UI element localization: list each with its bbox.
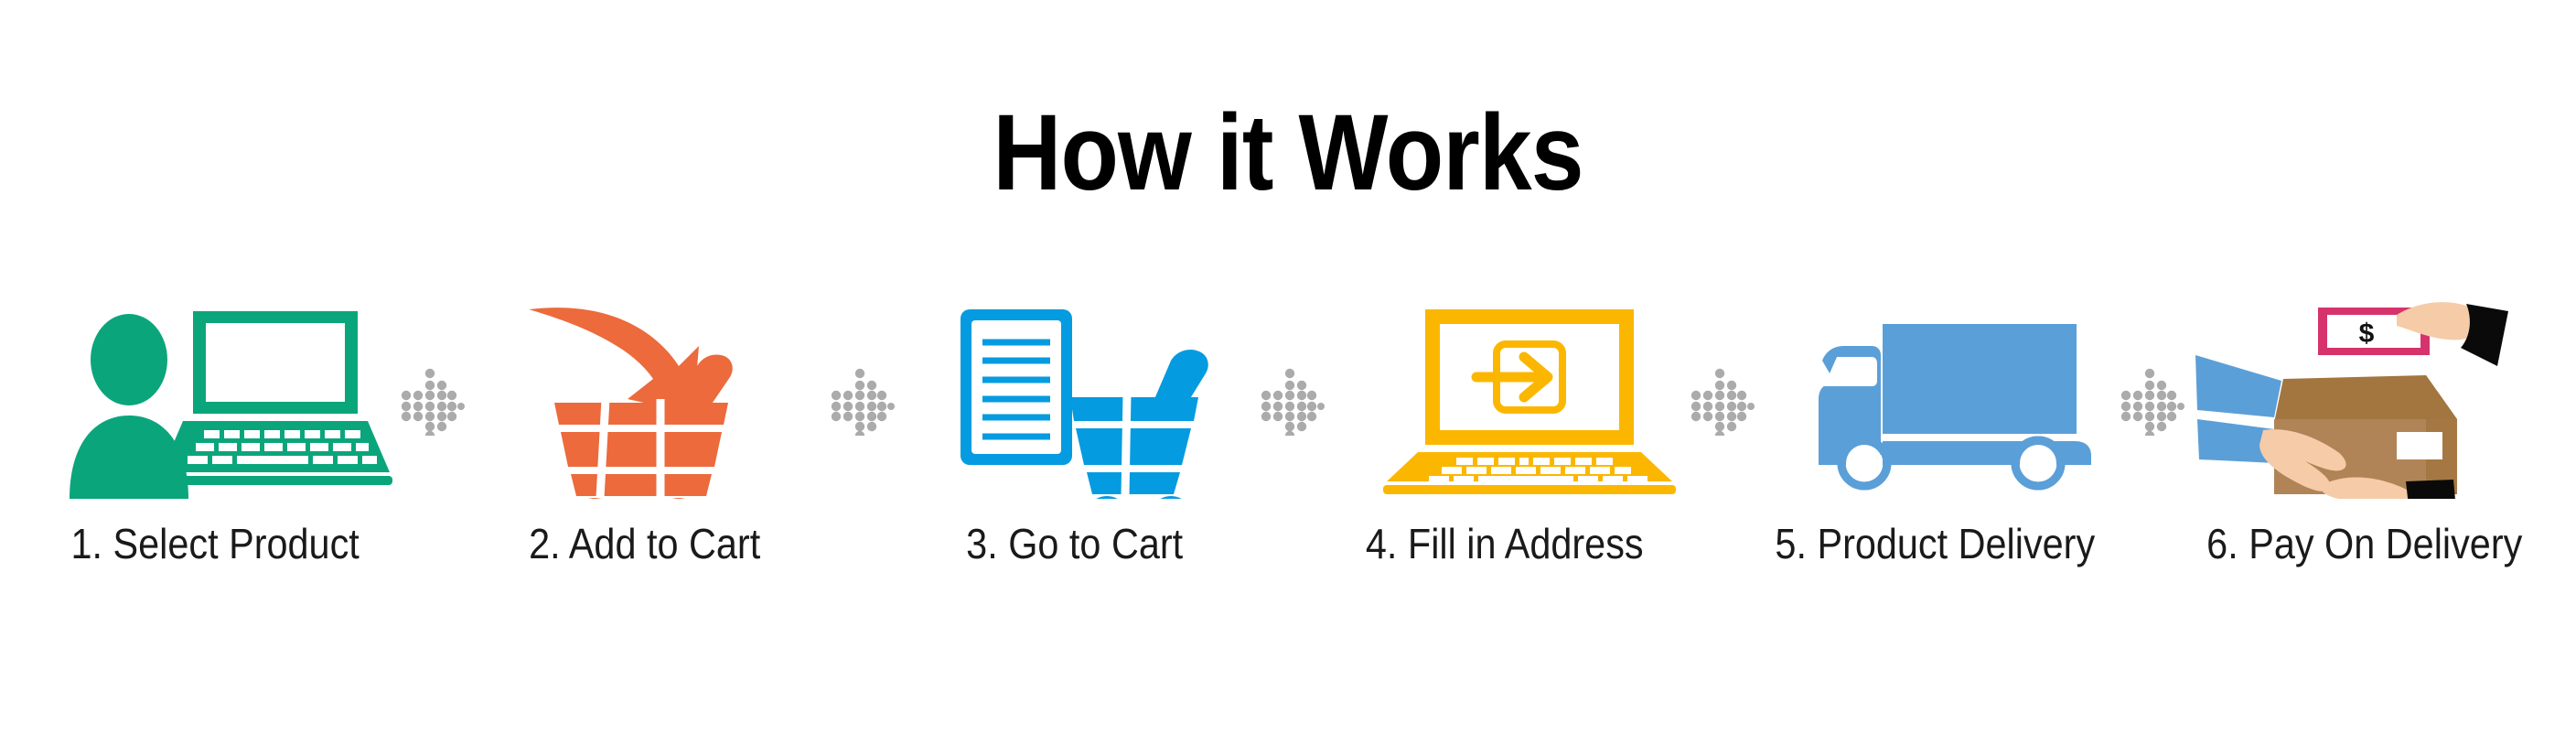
page-title: How it Works [155, 99, 2421, 207]
step-1-label: 1. Select Product [70, 523, 359, 565]
step-5-product-delivery[interactable]: 5. Product Delivery [1756, 302, 2113, 632]
step-1-select-product[interactable]: 1. Select Product [37, 302, 393, 632]
step-6-pay-on-delivery[interactable]: $ [2186, 302, 2543, 632]
dotted-arrow-right-icon [2113, 302, 2186, 499]
step-4-fill-in-address[interactable]: 4. Fill in Address [1326, 302, 1683, 632]
step-6-label: 6. Pay On Delivery [2206, 523, 2522, 565]
how-it-works-infographic: How it Works [0, 0, 2576, 745]
cash-on-delivery-icon: $ [2186, 302, 2543, 499]
step-3-label: 3. Go to Cart [966, 523, 1183, 565]
person-at-laptop-icon [37, 302, 393, 499]
step-4-label: 4. Fill in Address [1366, 523, 1644, 565]
dotted-arrow-right-icon [1253, 302, 1326, 499]
svg-text:$: $ [2359, 319, 2375, 349]
dotted-arrow-right-icon [393, 302, 467, 499]
step-5-label: 5. Product Delivery [1775, 523, 2095, 565]
dotted-arrow-right-icon [823, 302, 896, 499]
delivery-truck-icon [1756, 302, 2113, 499]
steps-container: 1. Select Product [37, 302, 2543, 632]
document-and-cart-icon [896, 302, 1253, 499]
dotted-arrow-right-icon [1683, 302, 1756, 499]
step-3-go-to-cart[interactable]: 3. Go to Cart [896, 302, 1253, 632]
step-2-label: 2. Add to Cart [529, 523, 760, 565]
cart-with-arrow-icon [467, 302, 823, 499]
laptop-login-icon [1326, 302, 1683, 499]
step-2-add-to-cart[interactable]: 2. Add to Cart [467, 302, 823, 632]
